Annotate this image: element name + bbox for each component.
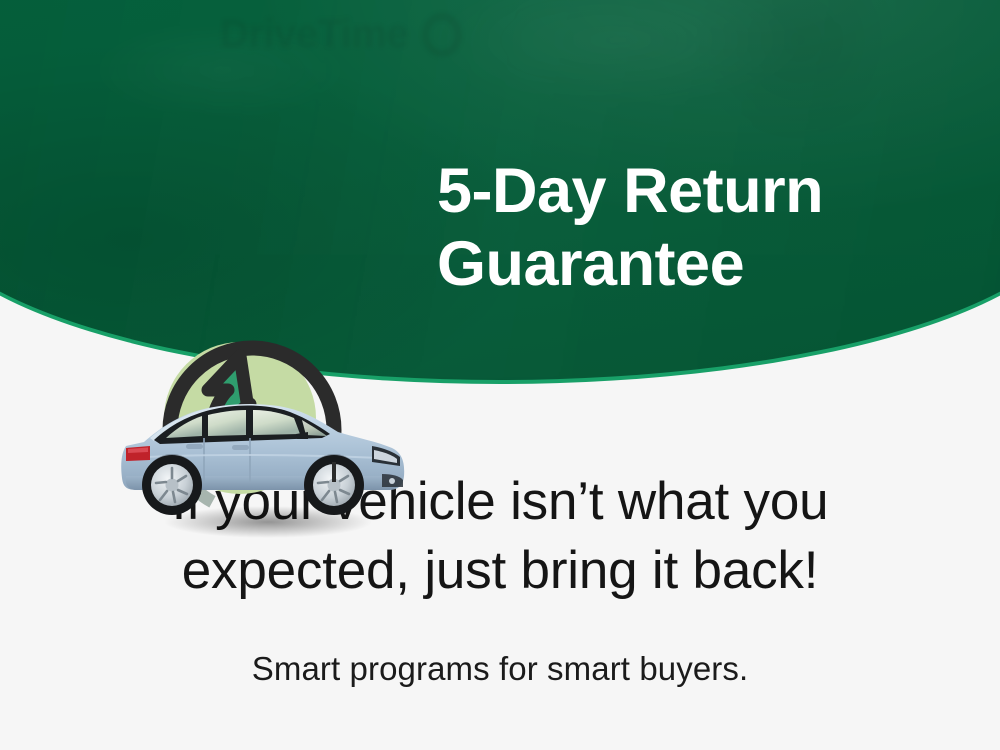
brand-watermark-circle-icon xyxy=(422,13,462,57)
hero-headline: 5-Day Return Guarantee xyxy=(437,155,957,301)
promo-banner: DriveTime xyxy=(0,0,1000,750)
return-arrow-front-segment xyxy=(332,462,336,482)
headline-line-2: Guarantee xyxy=(437,228,957,301)
brand-watermark: DriveTime xyxy=(220,12,462,57)
car-handle-rear xyxy=(186,444,203,449)
car-fog-light xyxy=(389,478,395,484)
car-return-arrow-illustration xyxy=(100,330,430,560)
tagline: Smart programs for smart buyers. xyxy=(0,606,1000,688)
headline-line-1: 5-Day Return xyxy=(437,155,957,228)
car-rear-wheel xyxy=(142,455,202,515)
car-handle-front xyxy=(232,445,249,450)
brand-watermark-text: DriveTime xyxy=(220,12,408,57)
car-rear-door-glass xyxy=(208,410,246,436)
